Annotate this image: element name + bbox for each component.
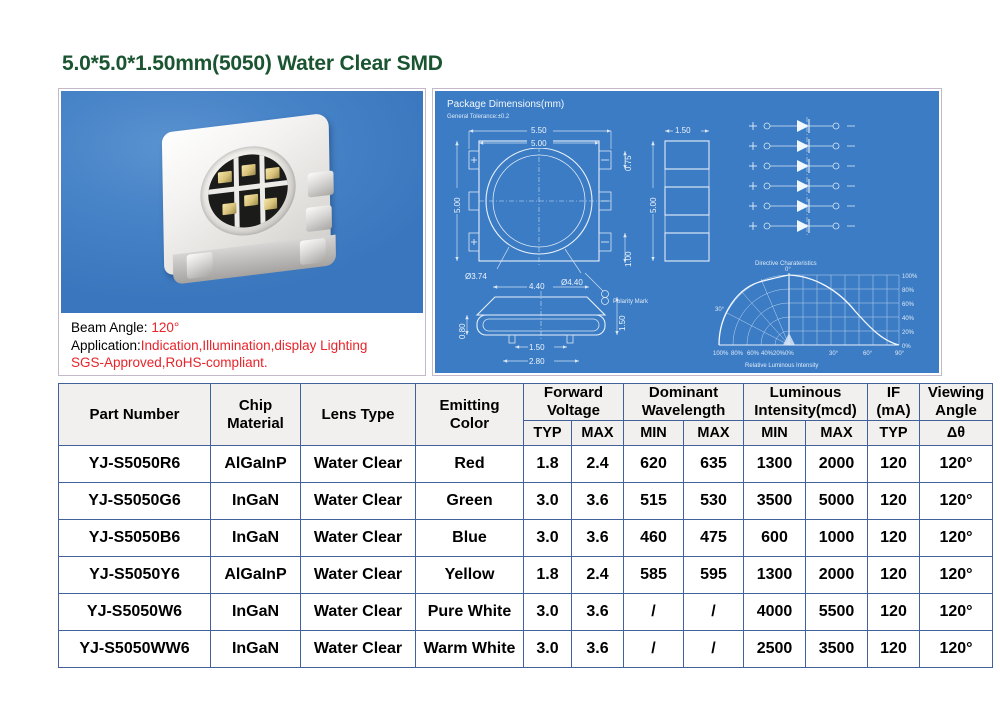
- cell-wl-min: 460: [624, 520, 684, 557]
- drawing-canvas: .ln { stroke:#dce8f6; stroke-width:0.8; …: [435, 91, 939, 373]
- chart-x-tick: 60%: [747, 351, 760, 357]
- subheader-viewing-angle: Δθ: [920, 421, 993, 446]
- cell-wl-min: 585: [624, 557, 684, 594]
- cell-vf-max: 3.6: [572, 594, 624, 631]
- chart-y-tick: 100%: [902, 274, 918, 280]
- led-solder-pad: [306, 205, 332, 232]
- subheader-iv-max: MAX: [806, 421, 868, 446]
- led-symbol: [764, 139, 855, 153]
- subheader-vf-typ: TYP: [524, 421, 572, 446]
- cell-emitting-color: Pure White: [416, 594, 524, 631]
- led-die: [242, 164, 256, 177]
- cell-emitting-color: Green: [416, 483, 524, 520]
- header-dominant-wavelength: Dominant Wavelength: [624, 384, 744, 421]
- led-symbol: [764, 199, 855, 213]
- cell-wl-min: /: [624, 631, 684, 668]
- side-view: 1.50 5.00: [647, 124, 709, 261]
- dim-lead-gap: 1.50: [529, 343, 545, 352]
- header-luminous-intensity-line2: Intensity(mcd): [744, 402, 867, 420]
- beam-angle-label: Beam Angle:: [71, 320, 151, 335]
- cell-wl-min: 620: [624, 446, 684, 483]
- dim-front-body-width: 4.40: [529, 282, 545, 291]
- table-row: YJ-S5050W6InGaNWater ClearPure White3.03…: [59, 594, 993, 631]
- led-symbol: [764, 119, 855, 133]
- drawing-tolerance: General Tolerance:±0.2: [447, 114, 510, 120]
- package-drawing-panel: .ln { stroke:#dce8f6; stroke-width:0.8; …: [432, 88, 942, 376]
- beam-angle-value: 120°: [151, 320, 179, 335]
- application-value: Indication,Illumination,display Lighting: [141, 338, 368, 353]
- chart-y-tick: 40%: [902, 316, 915, 322]
- led-die: [222, 202, 236, 215]
- cell-vf-typ: 1.8: [524, 557, 572, 594]
- cell-part-number: YJ-S5050B6: [59, 520, 211, 557]
- cell-wl-min: 515: [624, 483, 684, 520]
- led-die: [244, 194, 258, 207]
- product-photo-panel: Beam Angle: 120° Application:Indication,…: [58, 88, 426, 376]
- table-header-row-1: Part Number Chip Material Lens Type Emit…: [59, 384, 993, 421]
- dim-lens-inner-dia: Ø3.74: [465, 272, 487, 281]
- chart-angle-tick: 90°: [895, 351, 905, 357]
- polarity-label: Polarity Mark: [613, 299, 649, 305]
- cell-iv-min: 600: [744, 520, 806, 557]
- cell-viewing-angle: 120°: [920, 594, 993, 631]
- cell-emitting-color: Blue: [416, 520, 524, 557]
- cell-lens-type: Water Clear: [301, 483, 416, 520]
- cell-chip-material: InGaN: [211, 631, 301, 668]
- die-slot: [233, 156, 239, 229]
- cell-iv-max: 5500: [806, 594, 868, 631]
- led-die: [218, 171, 232, 184]
- subheader-iv-min: MIN: [744, 421, 806, 446]
- cell-vf-max: 2.4: [572, 557, 624, 594]
- table-row: YJ-S5050WW6InGaNWater ClearWarm White3.0…: [59, 631, 993, 668]
- cell-viewing-angle: 120°: [920, 483, 993, 520]
- cell-wl-max: /: [684, 594, 744, 631]
- cell-chip-material: InGaN: [211, 483, 301, 520]
- cell-iv-max: 5000: [806, 483, 868, 520]
- cell-iv-min: 1300: [744, 446, 806, 483]
- cell-iv-min: 4000: [744, 594, 806, 631]
- die-slot: [259, 153, 265, 226]
- cell-wl-max: /: [684, 631, 744, 668]
- table-row: YJ-S5050R6AlGaInPWater ClearRed1.82.4620…: [59, 446, 993, 483]
- cell-viewing-angle: 120°: [920, 557, 993, 594]
- header-forward-voltage-line2: Voltage: [524, 402, 623, 420]
- cell-iv-max: 2000: [806, 446, 868, 483]
- circuit-diagram: [749, 117, 855, 237]
- page-title: 5.0*5.0*1.50mm(5050) Water Clear SMD: [62, 52, 443, 76]
- cell-wl-max: 635: [684, 446, 744, 483]
- cell-vf-typ: 3.0: [524, 483, 572, 520]
- cell-emitting-color: Red: [416, 446, 524, 483]
- header-luminous-intensity: Luminous Intensity(mcd): [744, 384, 868, 421]
- chart-y-tick: 60%: [902, 302, 915, 308]
- top-view: 5.50 5.00 5.00 0.75 1.00: [451, 124, 633, 287]
- led-solder-pad: [187, 252, 213, 279]
- cell-vf-typ: 3.0: [524, 520, 572, 557]
- header-lens-type: Lens Type: [301, 384, 416, 446]
- cell-part-number: YJ-S5050W6: [59, 594, 211, 631]
- header-part-number: Part Number: [59, 384, 211, 446]
- specification-table: Part Number Chip Material Lens Type Emit…: [58, 383, 993, 668]
- cell-chip-material: InGaN: [211, 520, 301, 557]
- table-row: YJ-S5050B6InGaNWater ClearBlue3.03.64604…: [59, 520, 993, 557]
- cell-iv-min: 2500: [744, 631, 806, 668]
- chart-y-tick: 0%: [902, 344, 911, 350]
- cell-if-typ: 120: [868, 631, 920, 668]
- header-emitting-color: Emitting Color: [416, 384, 524, 446]
- cell-if-typ: 120: [868, 594, 920, 631]
- cell-part-number: YJ-S5050R6: [59, 446, 211, 483]
- chart-angle-tick: 30°: [715, 307, 725, 313]
- led-product-image: [61, 91, 423, 313]
- beam-angle-line: Beam Angle: 120°: [71, 319, 417, 337]
- chart-x-tick: 80%: [731, 351, 744, 357]
- header-luminous-intensity-line1: Luminous: [744, 384, 867, 402]
- cell-wl-max: 595: [684, 557, 744, 594]
- header-emitting-color-line2: Color: [416, 415, 523, 433]
- drawing-heading: Package Dimensions(mm): [447, 99, 564, 110]
- dim-base-height: 0.80: [458, 323, 467, 339]
- led-package-illustration: [148, 109, 348, 290]
- header-chip-material-line1: Chip: [211, 397, 300, 415]
- header-forward-voltage-line1: Forward: [524, 384, 623, 402]
- directive-characteristics-chart: Directive Charateristics: [713, 261, 918, 369]
- header-chip-material-line2: Material: [211, 415, 300, 433]
- header-forward-voltage: Forward Voltage: [524, 384, 624, 421]
- dim-pad-height: 1.00: [624, 251, 633, 267]
- led-symbol: [764, 179, 855, 193]
- chart-angle-tick: 60°: [863, 351, 873, 357]
- subheader-vf-max: MAX: [572, 421, 624, 446]
- chart-angle-tick: 0°: [785, 267, 791, 273]
- photo-caption: Beam Angle: 120° Application:Indication,…: [71, 319, 417, 372]
- cell-lens-type: Water Clear: [301, 631, 416, 668]
- chart-x-tick: 40%: [761, 351, 774, 357]
- cell-vf-max: 2.4: [572, 446, 624, 483]
- header-if-ma: IF (mA): [868, 384, 920, 421]
- dim-lead-span: 2.80: [529, 357, 545, 366]
- dim-height: 5.00: [453, 197, 462, 213]
- chart-xlabel: Relative Luminous Intensity: [745, 363, 818, 369]
- dim-front-body-height: 1.50: [618, 315, 627, 331]
- header-viewing-angle-line1: Viewing: [920, 384, 992, 402]
- dim-pad-pitch: 0.75: [624, 155, 633, 171]
- cell-lens-type: Water Clear: [301, 594, 416, 631]
- subheader-wl-min: MIN: [624, 421, 684, 446]
- cell-viewing-angle: 120°: [920, 446, 993, 483]
- chart-y-tick: 20%: [902, 330, 915, 336]
- cell-lens-type: Water Clear: [301, 446, 416, 483]
- datasheet-page: 5.0*5.0*1.50mm(5050) Water Clear SMD: [0, 0, 1000, 720]
- table-row: YJ-S5050G6InGaNWater ClearGreen3.03.6515…: [59, 483, 993, 520]
- cell-part-number: YJ-S5050WW6: [59, 631, 211, 668]
- cell-vf-max: 3.6: [572, 520, 624, 557]
- cell-chip-material: AlGaInP: [211, 557, 301, 594]
- chart-x-tick: 20%: [773, 351, 786, 357]
- cell-emitting-color: Warm White: [416, 631, 524, 668]
- header-if-line2: (mA): [868, 402, 919, 420]
- cell-viewing-angle: 120°: [920, 520, 993, 557]
- cell-chip-material: InGaN: [211, 594, 301, 631]
- cell-iv-max: 1000: [806, 520, 868, 557]
- cell-viewing-angle: 120°: [920, 631, 993, 668]
- cell-vf-typ: 1.8: [524, 446, 572, 483]
- table-row: YJ-S5050Y6AlGaInPWater ClearYellow1.82.4…: [59, 557, 993, 594]
- package-dimension-drawing: .ln { stroke:#dce8f6; stroke-width:0.8; …: [435, 91, 939, 373]
- dim-width-outer: 5.50: [531, 126, 547, 135]
- led-solder-pad: [308, 170, 334, 197]
- chart-angle-tick: 30°: [829, 351, 839, 357]
- cell-wl-min: /: [624, 594, 684, 631]
- cell-iv-min: 1300: [744, 557, 806, 594]
- led-die: [264, 197, 277, 210]
- cell-iv-min: 3500: [744, 483, 806, 520]
- dim-width-inner: 5.00: [531, 139, 547, 148]
- dim-side-height: 5.00: [649, 197, 658, 213]
- subheader-if-typ: TYP: [868, 421, 920, 446]
- header-dominant-wavelength-line2: Wavelength: [624, 402, 743, 420]
- cell-if-typ: 120: [868, 520, 920, 557]
- cell-iv-max: 2000: [806, 557, 868, 594]
- led-solder-pad: [300, 238, 326, 265]
- cell-vf-typ: 3.0: [524, 631, 572, 668]
- cell-iv-max: 3500: [806, 631, 868, 668]
- led-symbol: [764, 159, 855, 173]
- table-body: YJ-S5050R6AlGaInPWater ClearRed1.82.4620…: [59, 446, 993, 668]
- header-viewing-angle: Viewing Angle: [920, 384, 993, 421]
- led-symbol: [764, 219, 855, 233]
- application-label: Application:: [71, 338, 141, 353]
- cell-vf-max: 3.6: [572, 631, 624, 668]
- cell-if-typ: 120: [868, 446, 920, 483]
- chart-x-tick: 0%: [785, 351, 794, 357]
- cell-wl-max: 530: [684, 483, 744, 520]
- header-if-line1: IF: [868, 384, 919, 402]
- cell-lens-type: Water Clear: [301, 557, 416, 594]
- chart-y-tick: 80%: [902, 288, 915, 294]
- cell-chip-material: AlGaInP: [211, 446, 301, 483]
- cell-if-typ: 120: [868, 557, 920, 594]
- cell-part-number: YJ-S5050G6: [59, 483, 211, 520]
- header-viewing-angle-line2: Angle: [920, 402, 992, 420]
- compliance-line: SGS-Approved,RoHS-compliant.: [71, 354, 417, 372]
- cell-emitting-color: Yellow: [416, 557, 524, 594]
- cell-if-typ: 120: [868, 483, 920, 520]
- application-line: Application:Indication,Illumination,disp…: [71, 337, 417, 355]
- dim-side-width: 1.50: [675, 126, 691, 135]
- header-chip-material: Chip Material: [211, 384, 301, 446]
- cell-lens-type: Water Clear: [301, 520, 416, 557]
- subheader-wl-max: MAX: [684, 421, 744, 446]
- dim-lens-outer-dia: Ø4.40: [561, 278, 583, 287]
- cell-vf-max: 3.6: [572, 483, 624, 520]
- header-emitting-color-line1: Emitting: [416, 397, 523, 415]
- cell-part-number: YJ-S5050Y6: [59, 557, 211, 594]
- led-die: [266, 167, 280, 180]
- cell-wl-max: 475: [684, 520, 744, 557]
- cell-vf-typ: 3.0: [524, 594, 572, 631]
- chart-x-tick: 100%: [713, 351, 729, 357]
- header-dominant-wavelength-line1: Dominant: [624, 384, 743, 402]
